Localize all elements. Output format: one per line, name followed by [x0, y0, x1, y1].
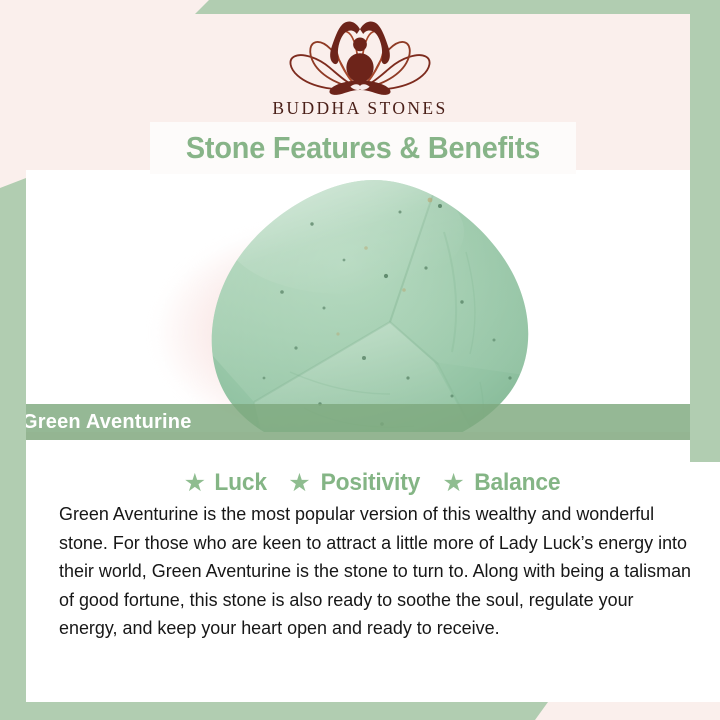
keyword-label: Balance: [474, 469, 560, 497]
stone-info-card: BUDDHA STONES Stone Features & Benefits: [0, 0, 720, 720]
page-title: Stone Features & Benefits: [165, 122, 561, 174]
stone-name-band: Green Aventurine: [0, 404, 690, 440]
frame-top-bar: [195, 0, 720, 14]
keyword-balance: ★ Balance: [442, 469, 562, 497]
star-icon: ★: [288, 471, 310, 496]
frame-bottom-bar: [0, 702, 548, 720]
description-panel: ★ Luck ★ Positivity ★ Balance Green Aven…: [26, 440, 720, 702]
stone-photo-stage: [26, 170, 690, 432]
lotus-meditation-icon: [280, 18, 440, 96]
keyword-luck: ★ Luck: [184, 469, 269, 497]
brand-header: BUDDHA STONES: [0, 18, 720, 133]
star-icon: ★: [184, 471, 206, 496]
stone-description-text: Green Aventurine is the most popular ver…: [59, 500, 696, 643]
frame-left-bar: [0, 178, 26, 703]
keyword-label: Positivity: [320, 469, 419, 497]
green-aventurine-stone-image: [194, 172, 554, 432]
stone-name-label: Green Aventurine: [22, 411, 192, 434]
star-icon: ★: [442, 471, 464, 496]
brand-name: BUDDHA STONES: [272, 98, 447, 119]
keyword-list: ★ Luck ★ Positivity ★ Balance: [26, 469, 720, 497]
keyword-positivity: ★ Positivity: [288, 469, 422, 497]
keyword-label: Luck: [214, 469, 266, 497]
